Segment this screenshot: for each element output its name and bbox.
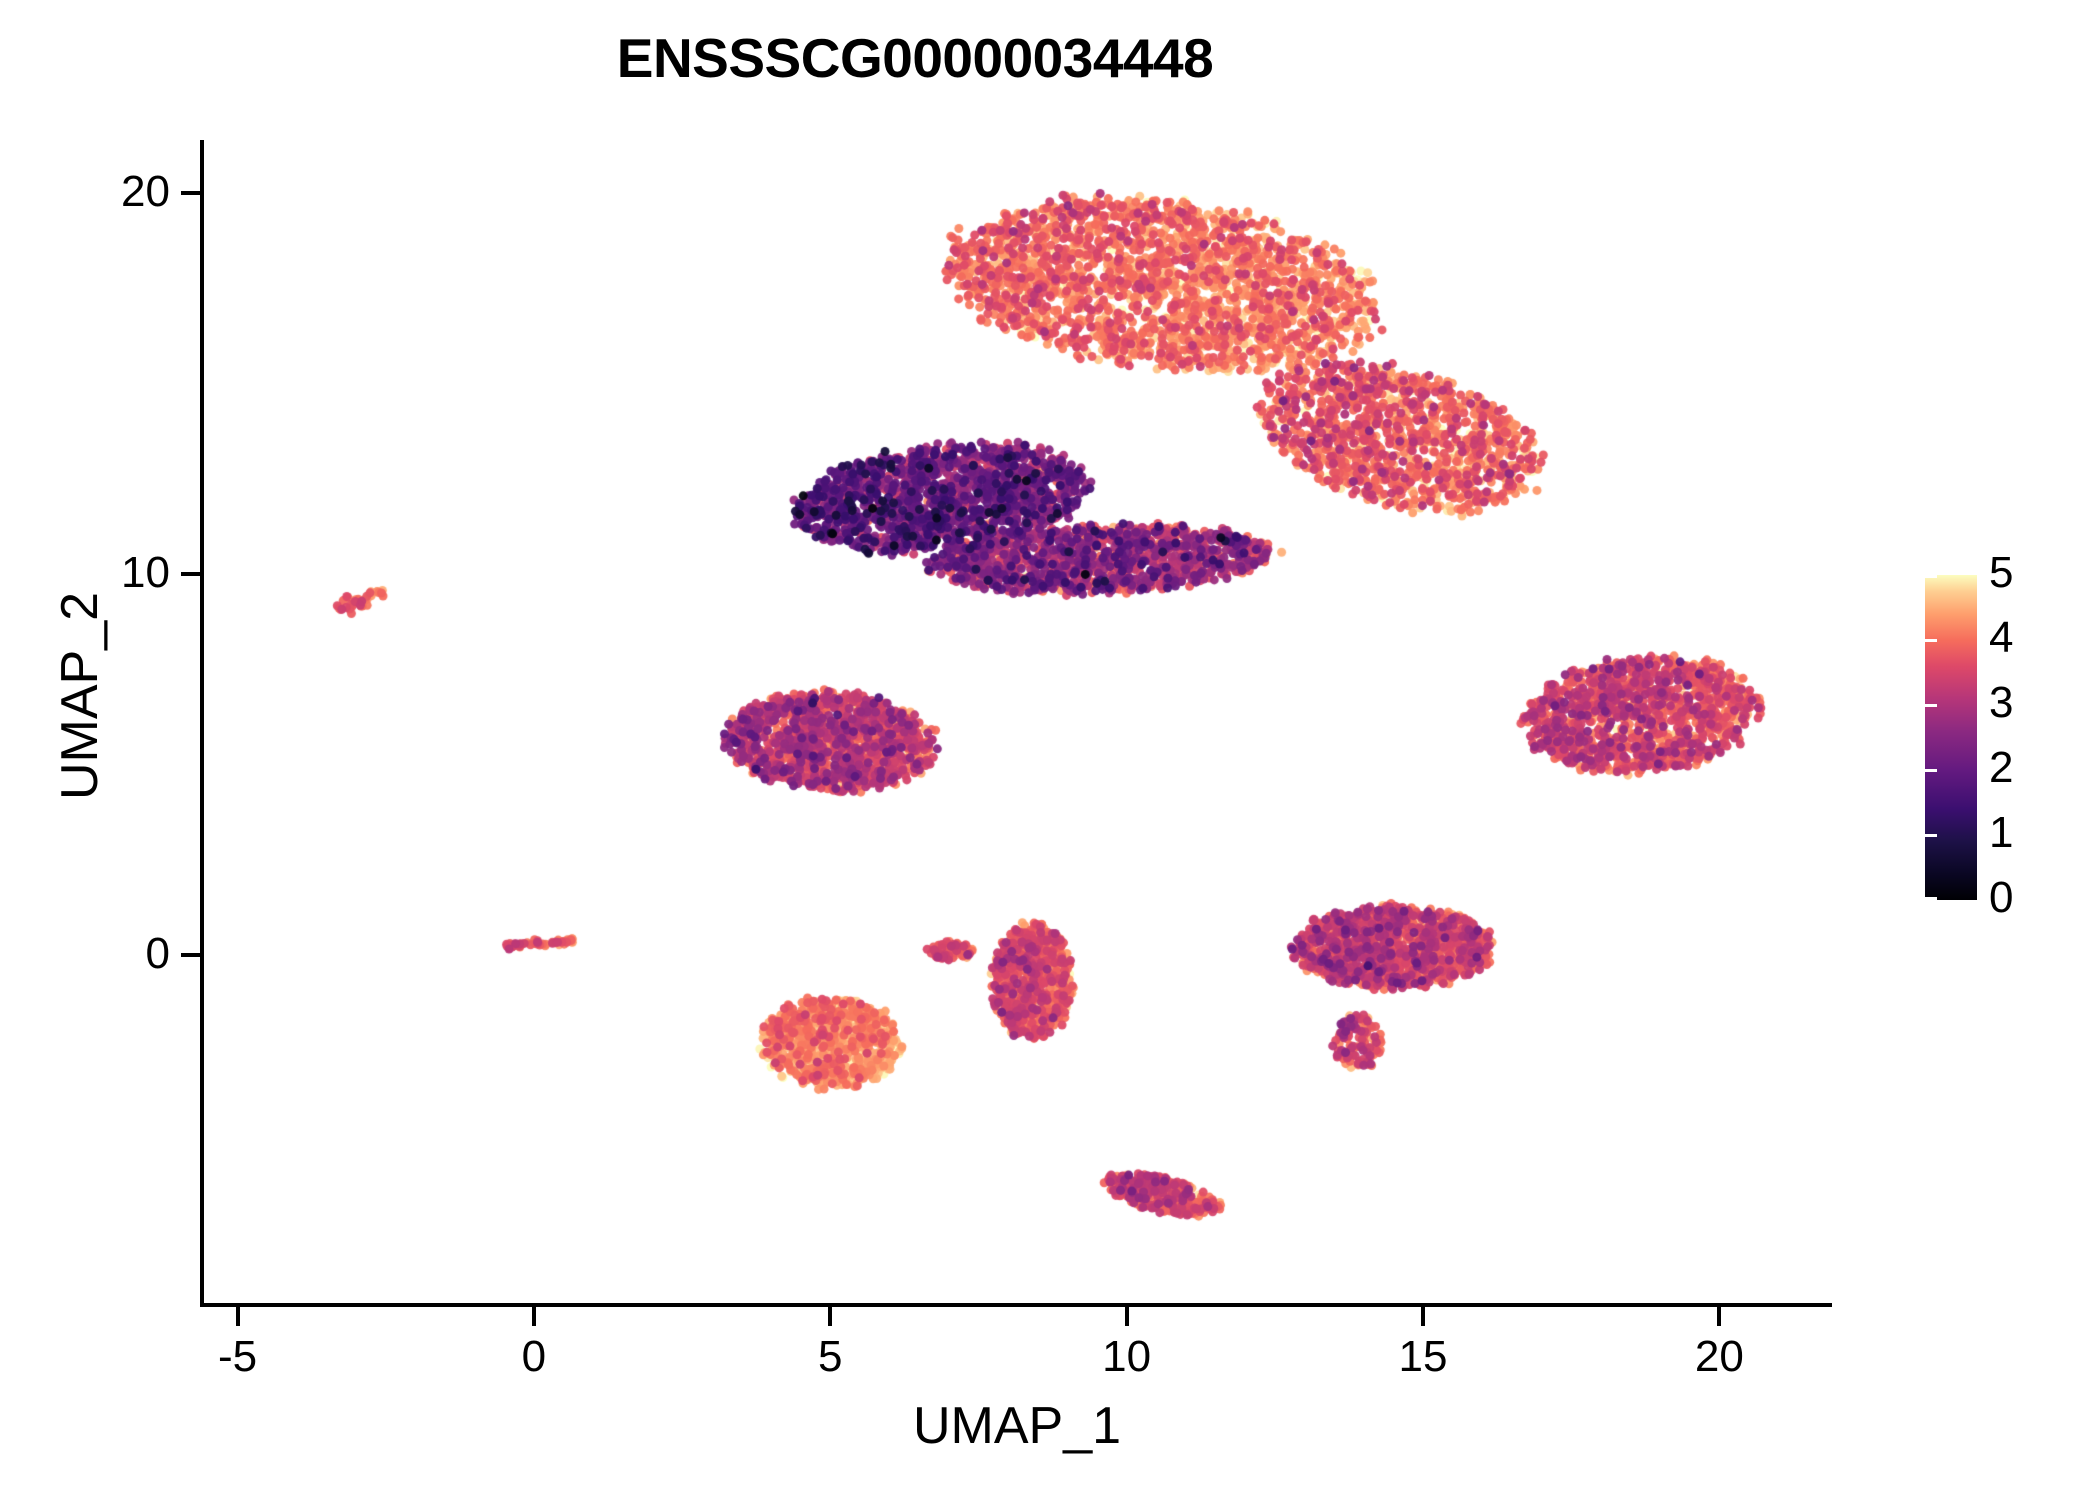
x-tick-mark	[1717, 1307, 1721, 1326]
y-axis-title: UMAP_2	[50, 376, 110, 1016]
colorbar-tick-mark	[1913, 834, 1925, 837]
colorbar-tick-mark	[1913, 897, 1925, 900]
y-tick-label: 20	[80, 167, 170, 217]
colorbar-tick-mark	[1913, 639, 1925, 642]
colorbar-tick-label: 0	[1989, 876, 2013, 920]
colorbar-tick-mark	[1913, 575, 1925, 578]
y-tick-mark	[181, 953, 200, 957]
x-tick-label: 0	[474, 1332, 594, 1382]
colorbar-tick-label: 2	[1989, 746, 2013, 790]
colorbar	[1925, 575, 1977, 900]
x-tick-label: 15	[1363, 1332, 1483, 1382]
y-axis-line	[200, 140, 204, 1307]
colorbar-tick-label: 3	[1989, 681, 2013, 725]
x-axis-title: UMAP_1	[202, 1396, 1832, 1456]
colorbar-gradient	[1925, 575, 1977, 900]
x-tick-label: 5	[770, 1332, 890, 1382]
x-tick-label: -5	[178, 1332, 298, 1382]
colorbar-tick-mark	[1925, 897, 1937, 900]
y-tick-mark	[181, 191, 200, 195]
y-tick-mark	[181, 572, 200, 576]
x-tick-mark	[236, 1307, 240, 1326]
x-axis-line	[200, 1303, 1832, 1307]
scatter-points-canvas	[202, 140, 1832, 1305]
colorbar-tick-label: 4	[1989, 616, 2013, 660]
colorbar-tick-mark	[1925, 704, 1937, 707]
colorbar-tick-mark	[1925, 639, 1937, 642]
x-tick-mark	[1125, 1307, 1129, 1326]
colorbar-tick-mark	[1925, 834, 1937, 837]
x-tick-mark	[1421, 1307, 1425, 1326]
x-tick-label: 20	[1659, 1332, 1779, 1382]
x-tick-mark	[532, 1307, 536, 1326]
colorbar-tick-mark	[1913, 704, 1925, 707]
colorbar-tick-mark	[1913, 769, 1925, 772]
x-tick-label: 10	[1067, 1332, 1187, 1382]
colorbar-tick-mark	[1925, 575, 1937, 578]
colorbar-tick-mark	[1925, 769, 1937, 772]
colorbar-tick-label: 1	[1989, 811, 2013, 855]
page-title: ENSSSCG00000034448	[0, 26, 1830, 90]
feature-plot-figure: ENSSSCG00000034448 01020 -505101520 UMAP…	[0, 0, 2100, 1500]
x-tick-mark	[828, 1307, 832, 1326]
plot-panel	[202, 140, 1832, 1305]
colorbar-tick-label: 5	[1989, 551, 2013, 595]
